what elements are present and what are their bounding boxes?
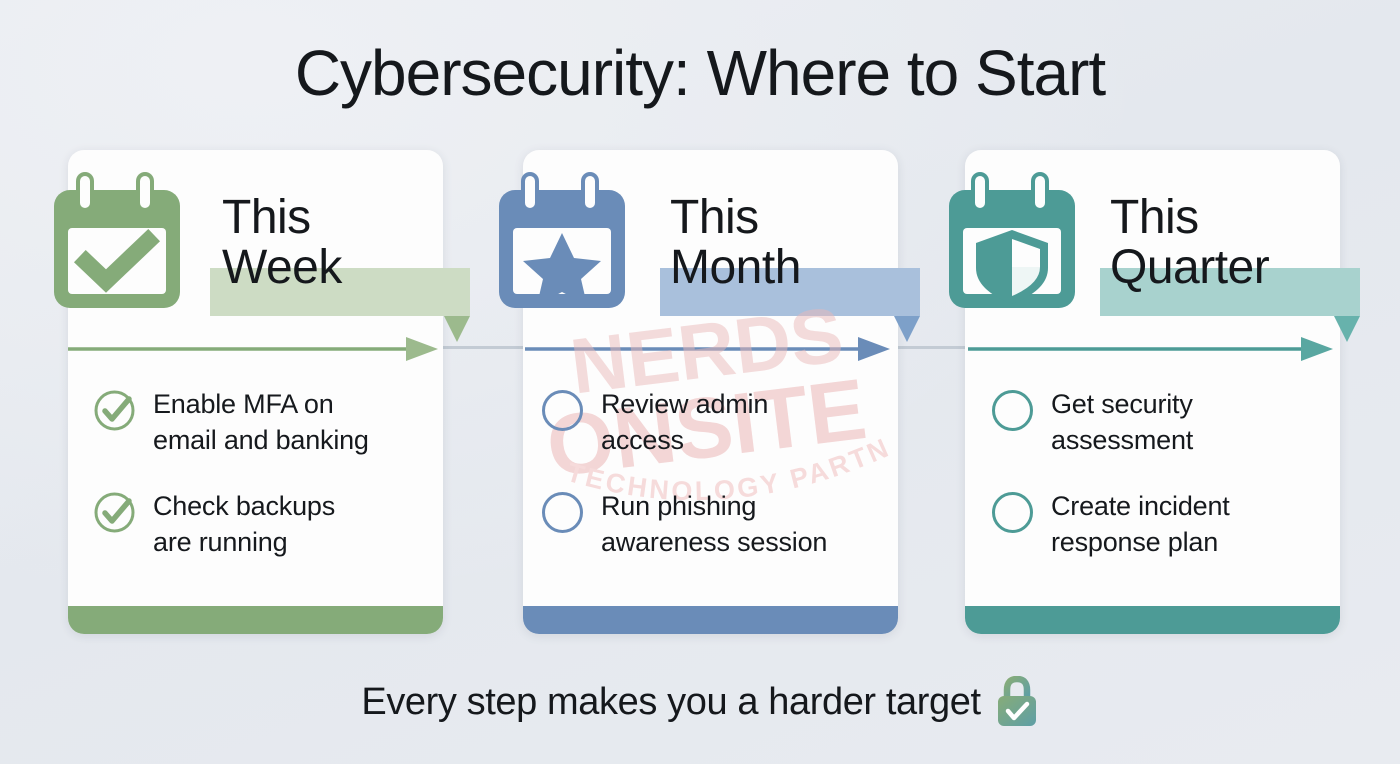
card-heading-3: This Quarter bbox=[1110, 193, 1269, 293]
circle-empty-icon bbox=[540, 388, 585, 433]
bullet-line-1: Get security bbox=[1051, 389, 1193, 419]
circle-check-icon bbox=[92, 388, 137, 433]
calendar-star-icon bbox=[495, 168, 629, 310]
timeline-arrow-1 bbox=[68, 334, 438, 364]
ribbon-tail-icon-3 bbox=[1334, 316, 1360, 342]
heading-line-1: This bbox=[1110, 191, 1199, 244]
heading-line-1: This bbox=[222, 191, 311, 244]
bullet-line-2: awareness session bbox=[601, 527, 827, 557]
ribbon-tail-icon-2 bbox=[894, 316, 920, 342]
bullet-line-1: Create incident bbox=[1051, 491, 1230, 521]
bullet-line-2: assessment bbox=[1051, 425, 1193, 455]
timeline-connector-1 bbox=[436, 346, 528, 349]
list-item[interactable]: Review admin access bbox=[540, 386, 870, 458]
timeline-arrow-3 bbox=[968, 334, 1333, 364]
list-item[interactable]: Enable MFA on email and banking bbox=[92, 386, 422, 458]
heading-line-1: This bbox=[670, 191, 759, 244]
lock-check-icon bbox=[995, 676, 1039, 728]
bullet-list-2: Review admin access Run phishing awarene… bbox=[540, 386, 870, 590]
bullet-list-3: Get security assessment Create incident … bbox=[990, 386, 1320, 590]
footer-tagline: Every step makes you a harder target bbox=[0, 676, 1400, 728]
list-item-text: Enable MFA on email and banking bbox=[153, 386, 369, 458]
calendar-shield-icon bbox=[945, 168, 1079, 310]
circle-empty-icon bbox=[990, 388, 1035, 433]
bullet-line-2: response plan bbox=[1051, 527, 1218, 557]
list-item-text: Run phishing awareness session bbox=[601, 488, 827, 560]
infographic-canvas: Cybersecurity: Where to Start NERDS ONSI… bbox=[0, 0, 1400, 764]
card-footer-bar-1 bbox=[68, 606, 443, 634]
circle-empty-icon bbox=[540, 490, 585, 535]
footer-text: Every step makes you a harder target bbox=[361, 681, 980, 724]
card-heading-2: This Month bbox=[670, 193, 801, 293]
list-item-text: Review admin access bbox=[601, 386, 768, 458]
list-item-text: Create incident response plan bbox=[1051, 488, 1230, 560]
circle-check-icon bbox=[92, 490, 137, 535]
heading-line-2: Month bbox=[670, 243, 801, 293]
bullet-line-2: email and banking bbox=[153, 425, 369, 455]
ribbon-tail-icon-1 bbox=[444, 316, 470, 342]
page-title: Cybersecurity: Where to Start bbox=[0, 36, 1400, 110]
heading-line-2: Quarter bbox=[1110, 243, 1269, 293]
timeline-arrow-2 bbox=[525, 334, 890, 364]
bullet-list-1: Enable MFA on email and banking Check ba… bbox=[92, 386, 422, 590]
list-item[interactable]: Get security assessment bbox=[990, 386, 1320, 458]
card-footer-bar-3 bbox=[965, 606, 1340, 634]
bullet-line-1: Check backups bbox=[153, 491, 335, 521]
calendar-check-icon bbox=[50, 168, 184, 310]
card-footer-bar-2 bbox=[523, 606, 898, 634]
bullet-line-1: Enable MFA on bbox=[153, 389, 334, 419]
timeline-connector-2 bbox=[888, 346, 972, 349]
circle-empty-icon bbox=[990, 490, 1035, 535]
list-item[interactable]: Check backups are running bbox=[92, 488, 422, 560]
list-item-text: Check backups are running bbox=[153, 488, 335, 560]
list-item[interactable]: Create incident response plan bbox=[990, 488, 1320, 560]
bullet-line-2: are running bbox=[153, 527, 287, 557]
list-item[interactable]: Run phishing awareness session bbox=[540, 488, 870, 560]
bullet-line-1: Review admin bbox=[601, 389, 768, 419]
list-item-text: Get security assessment bbox=[1051, 386, 1193, 458]
bullet-line-2: access bbox=[601, 425, 684, 455]
card-heading-1: This Week bbox=[222, 193, 342, 293]
heading-line-2: Week bbox=[222, 243, 342, 293]
bullet-line-1: Run phishing bbox=[601, 491, 756, 521]
